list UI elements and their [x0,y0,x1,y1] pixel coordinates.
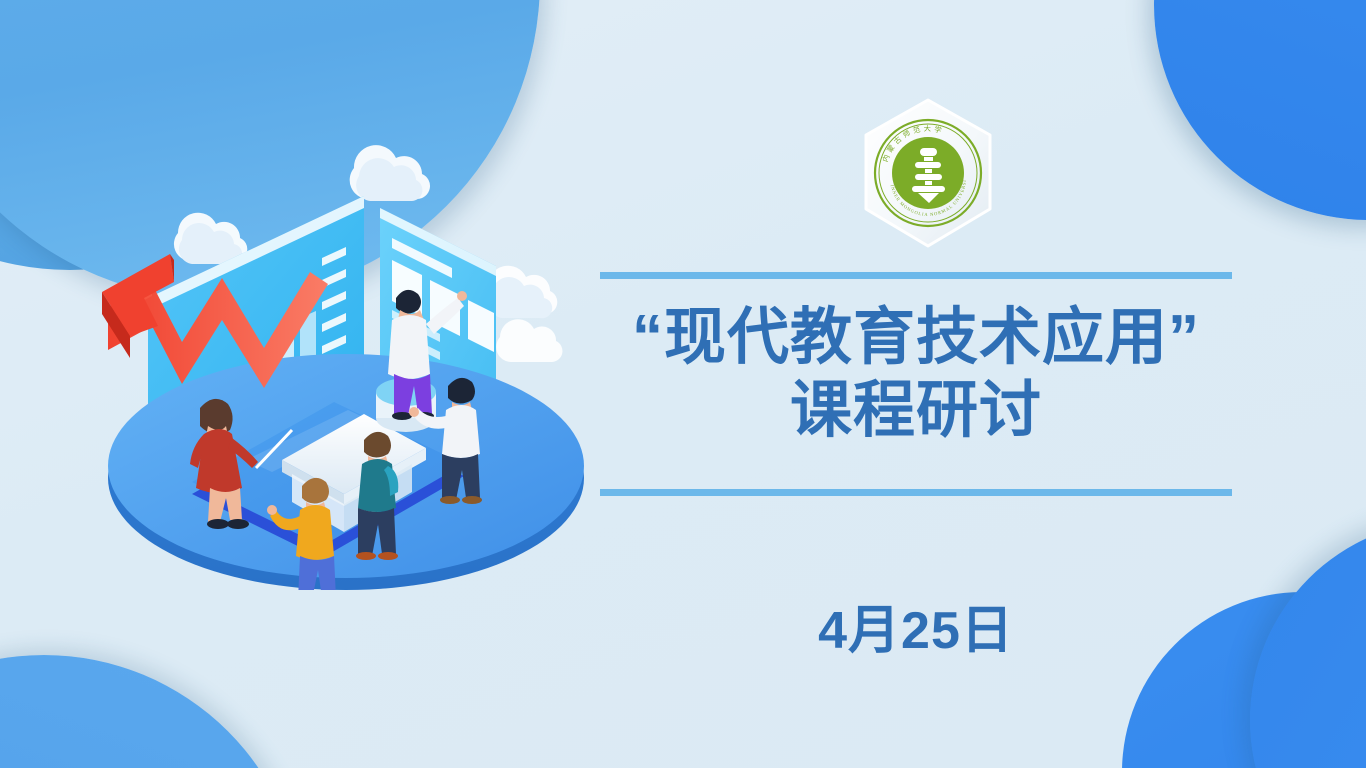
event-date: 4月25日 [600,588,1232,663]
divider-top [600,272,1232,279]
title-block: “现代教育技术应用” 课程研讨 [600,272,1232,457]
isometric-education-illustration [96,130,596,590]
presentation-slide: 内 蒙 古 师 范 大 学 INNER MONGOLIA NORMAL UNIV… [0,0,1366,768]
decorative-circle-bottom-left [0,655,304,768]
decorative-circle-top-right [1154,0,1366,220]
decorative-circle-bottom-right-front [1250,520,1366,768]
university-logo: 内 蒙 古 师 范 大 学 INNER MONGOLIA NORMAL UNIV… [848,96,1008,252]
page-title: “现代教育技术应用” 课程研讨 [600,297,1232,457]
divider-bottom [600,489,1232,496]
